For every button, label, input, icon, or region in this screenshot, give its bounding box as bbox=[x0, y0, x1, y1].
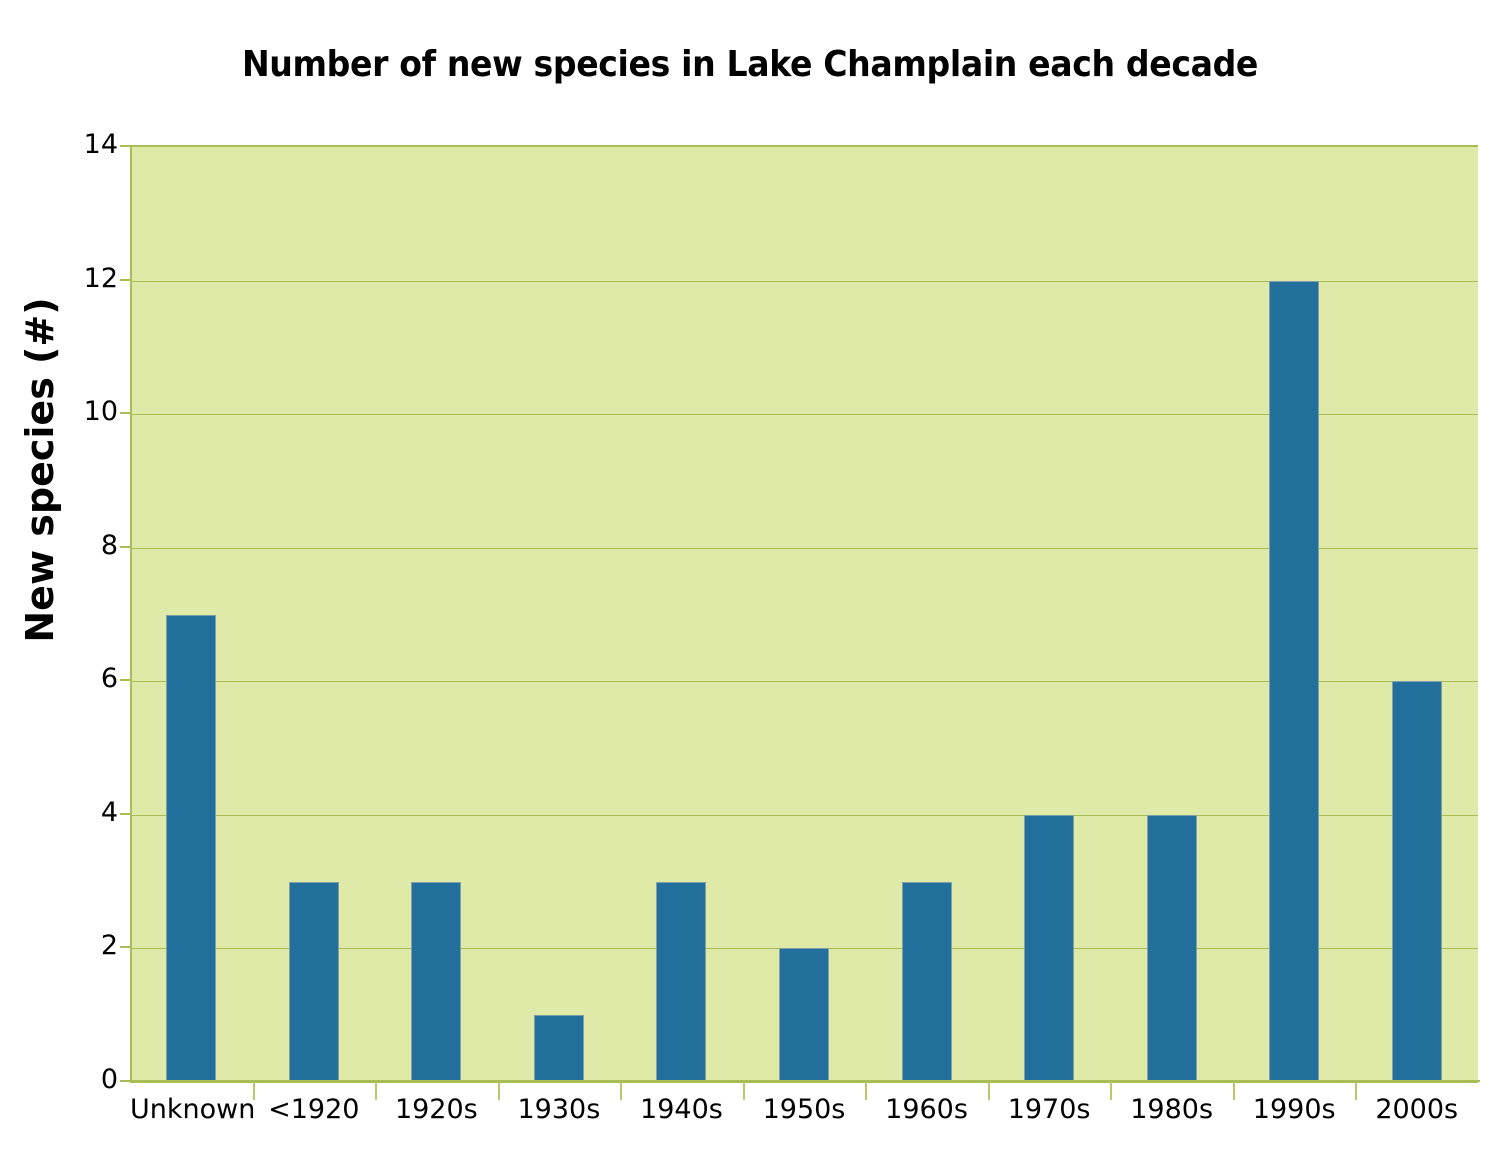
y-tick-mark bbox=[120, 1080, 130, 1082]
bar bbox=[1269, 281, 1319, 1082]
chart-title: Number of new species in Lake Champlain … bbox=[60, 44, 1440, 85]
bar bbox=[779, 948, 829, 1082]
x-tick-label: 1930s bbox=[498, 1095, 621, 1125]
y-tick-mark bbox=[120, 813, 130, 815]
y-axis-line bbox=[130, 145, 132, 1082]
x-tick-label: 2000s bbox=[1355, 1095, 1478, 1125]
x-tick-label: <1920 bbox=[253, 1095, 376, 1125]
x-axis-line bbox=[130, 1080, 1480, 1082]
x-tick-mark bbox=[498, 1082, 500, 1100]
bar bbox=[411, 882, 461, 1082]
gridline bbox=[130, 1082, 1478, 1083]
y-tick-label: 0 bbox=[38, 1066, 118, 1093]
bar bbox=[1147, 815, 1197, 1082]
x-tick-mark bbox=[620, 1082, 622, 1100]
bar bbox=[1392, 681, 1442, 1082]
x-tick-label: Unknown bbox=[130, 1095, 253, 1125]
y-tick-label: 12 bbox=[38, 265, 118, 292]
bar bbox=[534, 1015, 584, 1082]
x-tick-mark bbox=[375, 1082, 377, 1100]
bar bbox=[166, 615, 216, 1083]
x-tick-label: 1970s bbox=[988, 1095, 1111, 1125]
y-tick-label: 6 bbox=[38, 665, 118, 692]
x-tick-mark bbox=[1110, 1082, 1112, 1100]
y-tick-mark bbox=[120, 546, 130, 548]
y-axis-title: New species (#) bbox=[18, 260, 62, 680]
y-tick-mark bbox=[120, 412, 130, 414]
y-tick-label: 14 bbox=[38, 131, 118, 158]
y-tick-mark bbox=[120, 946, 130, 948]
bar bbox=[656, 882, 706, 1082]
x-tick-label: 1920s bbox=[375, 1095, 498, 1125]
y-tick-label: 8 bbox=[38, 532, 118, 559]
plot-area bbox=[130, 145, 1478, 1082]
y-tick-label: 2 bbox=[38, 932, 118, 959]
bar bbox=[1024, 815, 1074, 1082]
y-tick-mark bbox=[120, 279, 130, 281]
y-tick-mark bbox=[120, 145, 130, 147]
x-tick-label: 1940s bbox=[620, 1095, 743, 1125]
x-tick-label: 1950s bbox=[743, 1095, 866, 1125]
x-tick-label: 1960s bbox=[865, 1095, 988, 1125]
x-tick-label: 1990s bbox=[1233, 1095, 1356, 1125]
y-tick-label: 10 bbox=[38, 398, 118, 425]
bar bbox=[289, 882, 339, 1082]
x-tick-mark bbox=[1233, 1082, 1235, 1100]
x-tick-label: 1980s bbox=[1110, 1095, 1233, 1125]
x-tick-mark bbox=[743, 1082, 745, 1100]
x-tick-mark bbox=[253, 1082, 255, 1100]
y-tick-mark bbox=[120, 679, 130, 681]
x-tick-mark bbox=[988, 1082, 990, 1100]
bar bbox=[902, 882, 952, 1082]
y-tick-label: 4 bbox=[38, 799, 118, 826]
x-tick-mark bbox=[1355, 1082, 1357, 1100]
x-tick-mark bbox=[865, 1082, 867, 1100]
bar-chart: Number of new species in Lake Champlain … bbox=[0, 0, 1500, 1159]
